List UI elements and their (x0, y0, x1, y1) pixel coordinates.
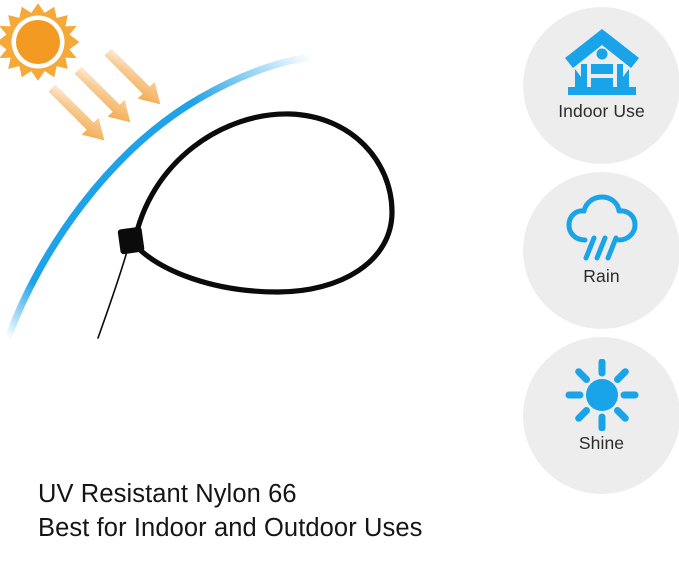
badge-label: Rain (583, 267, 619, 286)
uv-resistance-illustration (0, 0, 520, 470)
sun-shine-icon (560, 359, 644, 431)
badge-label: Shine (579, 434, 624, 453)
caption-line-1: UV Resistant Nylon 66 (38, 478, 638, 512)
product-feature-graphic: Indoor Use Rain (0, 0, 679, 574)
sun-burst-icon (0, 3, 79, 81)
feature-badge-list: Indoor Use Rain (523, 0, 679, 500)
house-icon (560, 25, 644, 99)
badge-rain[interactable]: Rain (523, 172, 679, 329)
cable-tie-loop-icon (98, 114, 392, 338)
badge-indoor-use[interactable]: Indoor Use (523, 7, 679, 164)
badge-shine[interactable]: Shine (523, 337, 679, 494)
blue-protective-arc-icon (8, 57, 312, 338)
caption-line-2: Best for Indoor and Outdoor Uses (38, 512, 638, 546)
badge-label: Indoor Use (558, 102, 645, 121)
feature-caption: UV Resistant Nylon 66 Best for Indoor an… (38, 478, 638, 546)
rain-cloud-icon (560, 194, 644, 264)
